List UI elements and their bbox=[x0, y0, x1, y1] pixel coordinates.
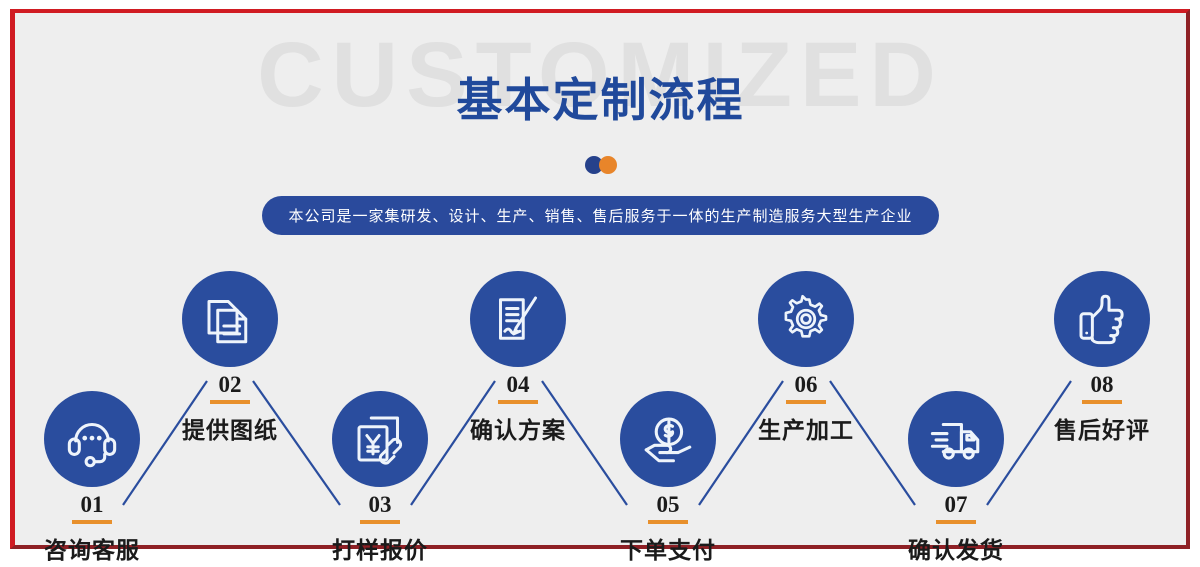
step-number: 05 bbox=[593, 493, 743, 516]
step-label: 生产加工 bbox=[731, 411, 881, 445]
step-number-underline bbox=[360, 520, 400, 524]
step-icon-circle bbox=[1054, 271, 1150, 367]
quote-yen-link-icon bbox=[352, 411, 408, 467]
step-label: 确认发货 bbox=[881, 531, 1031, 565]
step-number: 03 bbox=[305, 493, 455, 516]
process-step-01[interactable]: 01 咨询客服 bbox=[17, 391, 167, 565]
red-frame-border: CUSTOMIZED 基本定制流程 本公司是一家集研发、设计、生产、销售、售后服… bbox=[10, 9, 1190, 549]
thumbs-up-icon bbox=[1074, 291, 1130, 347]
documents-icon bbox=[202, 291, 258, 347]
step-label: 下单支付 bbox=[593, 531, 743, 565]
process-steps: 01 咨询客服 bbox=[15, 13, 1186, 545]
process-step-08[interactable]: 08 售后好评 bbox=[1027, 271, 1177, 445]
step-number: 06 bbox=[731, 373, 881, 396]
document-pen-icon bbox=[490, 291, 546, 347]
step-number-underline bbox=[648, 520, 688, 524]
step-icon-circle bbox=[470, 271, 566, 367]
process-step-04[interactable]: 04 确认方案 bbox=[443, 271, 593, 445]
headset-icon bbox=[63, 410, 121, 468]
step-icon-circle bbox=[44, 391, 140, 487]
poster-stage: CUSTOMIZED 基本定制流程 本公司是一家集研发、设计、生产、销售、售后服… bbox=[15, 13, 1186, 545]
step-icon-circle bbox=[908, 391, 1004, 487]
step-icon-circle bbox=[332, 391, 428, 487]
process-step-07[interactable]: 07 确认发货 bbox=[881, 391, 1031, 565]
process-step-06[interactable]: 06 生产加工 bbox=[731, 271, 881, 445]
step-number: 02 bbox=[155, 373, 305, 396]
step-number-underline bbox=[498, 400, 538, 404]
step-number-underline bbox=[72, 520, 112, 524]
process-step-02[interactable]: 02 提供图纸 bbox=[155, 271, 305, 445]
step-number-underline bbox=[936, 520, 976, 524]
step-number-underline bbox=[786, 400, 826, 404]
step-icon-circle bbox=[758, 271, 854, 367]
step-number: 01 bbox=[17, 493, 167, 516]
process-step-03[interactable]: 03 打样报价 bbox=[305, 391, 455, 565]
step-label: 售后好评 bbox=[1027, 411, 1177, 445]
step-icon-circle bbox=[620, 391, 716, 487]
step-number-underline bbox=[1082, 400, 1122, 404]
delivery-truck-icon bbox=[927, 410, 985, 468]
customization-process-poster: CUSTOMIZED 基本定制流程 本公司是一家集研发、设计、生产、销售、售后服… bbox=[0, 0, 1200, 567]
step-label: 提供图纸 bbox=[155, 411, 305, 445]
step-label: 确认方案 bbox=[443, 411, 593, 445]
step-label: 打样报价 bbox=[305, 531, 455, 565]
process-step-05[interactable]: 05 下单支付 bbox=[593, 391, 743, 565]
step-icon-circle bbox=[182, 271, 278, 367]
step-number: 04 bbox=[443, 373, 593, 396]
step-label: 咨询客服 bbox=[17, 531, 167, 565]
step-number: 07 bbox=[881, 493, 1031, 516]
step-number-underline bbox=[210, 400, 250, 404]
gear-icon bbox=[778, 291, 834, 347]
step-number: 08 bbox=[1027, 373, 1177, 396]
hand-coin-icon bbox=[639, 410, 697, 468]
